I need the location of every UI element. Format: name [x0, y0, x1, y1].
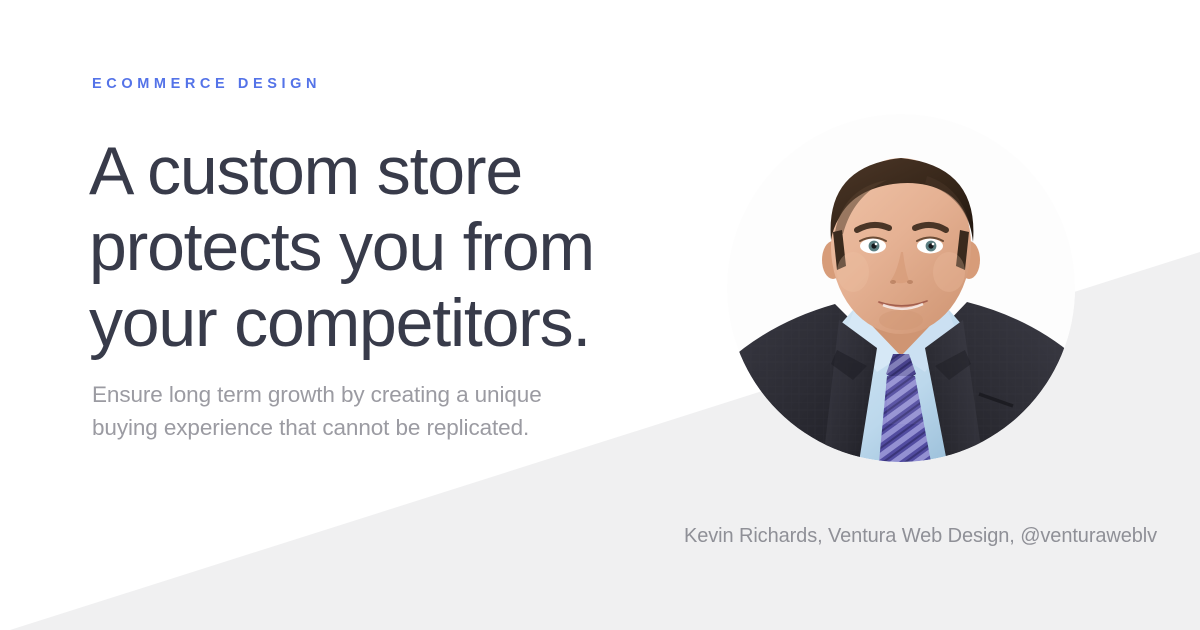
headline-line-2: protects you from: [89, 209, 594, 285]
headline-line-3: your competitors.: [89, 285, 594, 361]
page-title: A custom store protects you from your co…: [89, 133, 594, 361]
subheading-line-2: buying experience that cannot be replica…: [92, 411, 542, 444]
text-column: ECOMMERCE DESIGN A custom store protects…: [92, 0, 692, 630]
social-quote-card: ECOMMERCE DESIGN A custom store protects…: [0, 0, 1200, 630]
portrait-photo: [727, 114, 1075, 488]
portrait-circle-mask: [727, 114, 1075, 462]
portrait-illustration: [727, 114, 1075, 462]
subheading-line-1: Ensure long term growth by creating a un…: [92, 378, 542, 411]
category-eyebrow: ECOMMERCE DESIGN: [92, 76, 321, 92]
headline-line-1: A custom store: [89, 133, 594, 209]
subheading: Ensure long term growth by creating a un…: [92, 378, 542, 444]
attribution-text: Kevin Richards, Ventura Web Design, @ven…: [684, 525, 1157, 548]
